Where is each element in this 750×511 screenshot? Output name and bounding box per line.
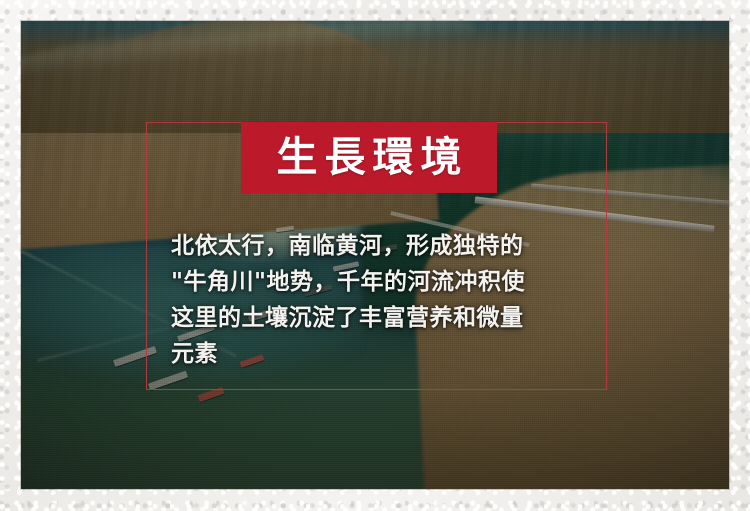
photo-building <box>113 346 157 367</box>
photo-building <box>198 387 225 402</box>
body-paragraph: 北依太行，南临黄河，形成独特的 "牛角川"地势，千年的河流冲积使 这里的土壤沉淀… <box>171 228 591 372</box>
photo-dam-deck-upper <box>531 183 729 205</box>
poster-paper-frame: 生長環境 北依太行，南临黄河，形成独特的 "牛角川"地势，千年的河流冲积使 这里… <box>0 0 750 511</box>
photo-building <box>148 370 188 390</box>
photo-dam-deck <box>475 196 715 232</box>
title-banner: 生長環境 <box>241 122 497 193</box>
page-title: 生長環境 <box>270 137 469 178</box>
